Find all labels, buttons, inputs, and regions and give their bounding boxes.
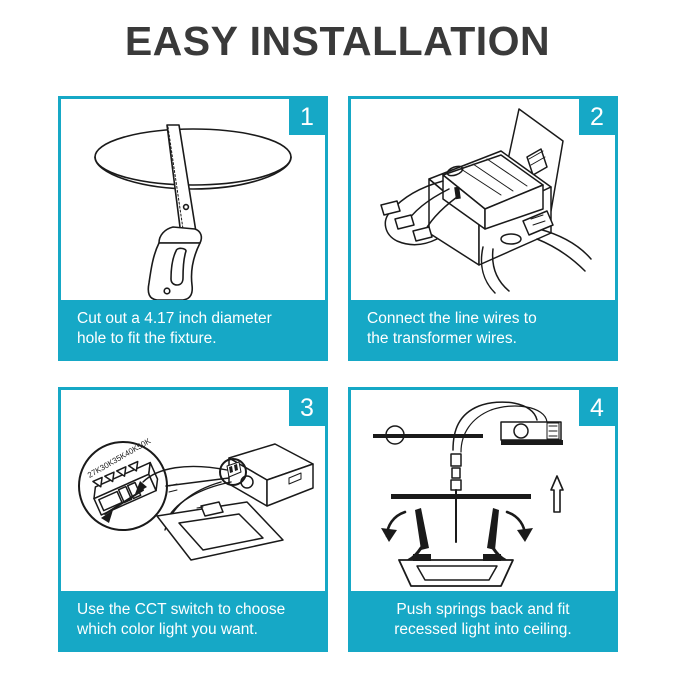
steps-grid: 1	[58, 96, 618, 652]
step-panel-2: 2	[348, 96, 618, 361]
step-caption-1: Cut out a 4.17 inch diameter hole to fit…	[61, 300, 325, 358]
step-number-badge-1: 1	[289, 99, 325, 135]
caption-line-3a: Use the CCT switch to choose	[77, 600, 313, 620]
step-panel-3: 3	[58, 387, 328, 652]
caption-line-1a: Cut out a 4.17 inch diameter	[77, 309, 313, 329]
caption-line-2b: the transformer wires.	[367, 329, 603, 349]
step-panel-1: 1	[58, 96, 328, 361]
step-caption-2: Connect the line wires to the transforme…	[351, 300, 615, 358]
page-title: EASY INSTALLATION	[0, 18, 675, 65]
step-number-badge-4: 4	[579, 390, 615, 426]
step-caption-3: Use the CCT switch to choose which color…	[61, 591, 325, 649]
step-panel-4: 4	[348, 387, 618, 652]
infographic-page: EASY INSTALLATION 1	[0, 0, 675, 675]
caption-line-3b: which color light you want.	[77, 620, 313, 640]
illustration-cct-switch: 27K30K35K40K50K	[61, 390, 325, 602]
caption-line-4a: Push springs back and fit	[361, 600, 605, 620]
step-number-badge-2: 2	[579, 99, 615, 135]
illustration-drywall-saw	[61, 99, 325, 311]
caption-line-2a: Connect the line wires to	[367, 309, 603, 329]
step-caption-4: Push springs back and fit recessed light…	[351, 591, 615, 649]
caption-line-1b: hole to fit the fixture.	[77, 329, 313, 349]
caption-line-4b: recessed light into ceiling.	[361, 620, 605, 640]
illustration-push-springs-ceiling	[351, 390, 615, 602]
illustration-transformer-wiring	[351, 99, 615, 311]
step-number-badge-3: 3	[289, 390, 325, 426]
